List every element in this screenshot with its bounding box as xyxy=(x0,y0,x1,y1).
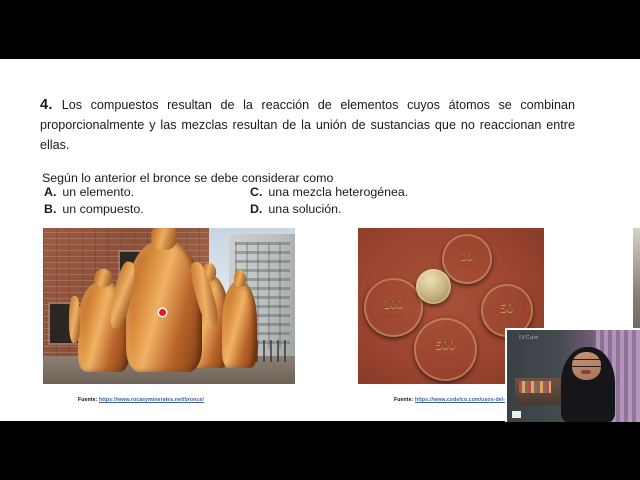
figure-caption-statues: Fuente: https://www.rocasyminerales.net/… xyxy=(78,397,204,403)
option-a-letter: A. xyxy=(44,185,56,199)
coin-value: 100 xyxy=(364,296,424,312)
webcam-corner-tag xyxy=(512,411,521,418)
option-d[interactable]: D.una solución. xyxy=(250,202,341,216)
coin-500-pesos: 500 PESOS xyxy=(414,318,477,380)
caption-prefix: Fuente: xyxy=(78,397,97,403)
option-row-1: A.un elemento. C.una mezcla heterogénea. xyxy=(42,185,582,202)
coin-denomination: PESOS xyxy=(481,316,533,321)
bronze-statue-main-figure xyxy=(126,240,202,371)
red-marker-dot xyxy=(159,309,166,316)
letterbox-bar-bottom xyxy=(0,421,640,480)
option-a[interactable]: A.un elemento. xyxy=(44,185,134,199)
question-text: Los compuestos resultan de la reacción d… xyxy=(40,98,575,152)
question-number: 4. xyxy=(40,97,53,113)
speaker-mouth xyxy=(581,370,590,374)
option-c[interactable]: C.una mezcla heterogénea. xyxy=(250,185,408,199)
figure-caption-coins: Fuente: https://www.codelco.com/usos-del… xyxy=(394,397,520,403)
answer-options: A.un elemento. C.una mezcla heterogénea.… xyxy=(42,185,582,219)
webcam-overlay[interactable]: IVCam xyxy=(505,328,640,422)
coin-small-worn xyxy=(416,269,451,305)
option-b-label: un compuesto. xyxy=(62,202,143,216)
bronze-statue-figure xyxy=(222,281,257,368)
option-b-letter: B. xyxy=(44,202,56,216)
option-b[interactable]: B.un compuesto. xyxy=(44,202,144,216)
coin-denomination: PESOS xyxy=(414,356,477,361)
letterbox-bar-top xyxy=(0,0,640,59)
coin-10-pesos: 10 PESOS xyxy=(442,234,492,284)
option-row-2: B.un compuesto. D.una solución. xyxy=(42,202,582,219)
bronze-statues-photo xyxy=(43,228,295,384)
caption-link[interactable]: https://www.rocasyminerales.net/bronce/ xyxy=(99,397,204,403)
question-paragraph: 4.Los compuestos resultan de la reacción… xyxy=(40,95,575,155)
caption-prefix: Fuente: xyxy=(394,397,413,403)
option-c-letter: C. xyxy=(250,185,262,199)
coin-100-pesos: 100 PESOS xyxy=(364,278,424,337)
coin-value: 10 xyxy=(442,249,492,264)
coin-denomination: PESOS xyxy=(442,264,492,269)
coin-value: 50 xyxy=(481,300,533,316)
option-a-label: un elemento. xyxy=(62,185,134,199)
coin-value: 500 xyxy=(414,337,477,353)
coin-denomination: PESOS xyxy=(364,313,424,318)
option-c-label: una mezcla heterogénea. xyxy=(268,185,408,199)
option-d-label: una solución. xyxy=(268,202,341,216)
option-d-letter: D. xyxy=(250,202,262,216)
video-frame: 4.Los compuestos resultan de la reacción… xyxy=(0,0,640,480)
eyeglasses-icon xyxy=(570,359,604,367)
webcam-label: IVCam xyxy=(519,335,539,341)
